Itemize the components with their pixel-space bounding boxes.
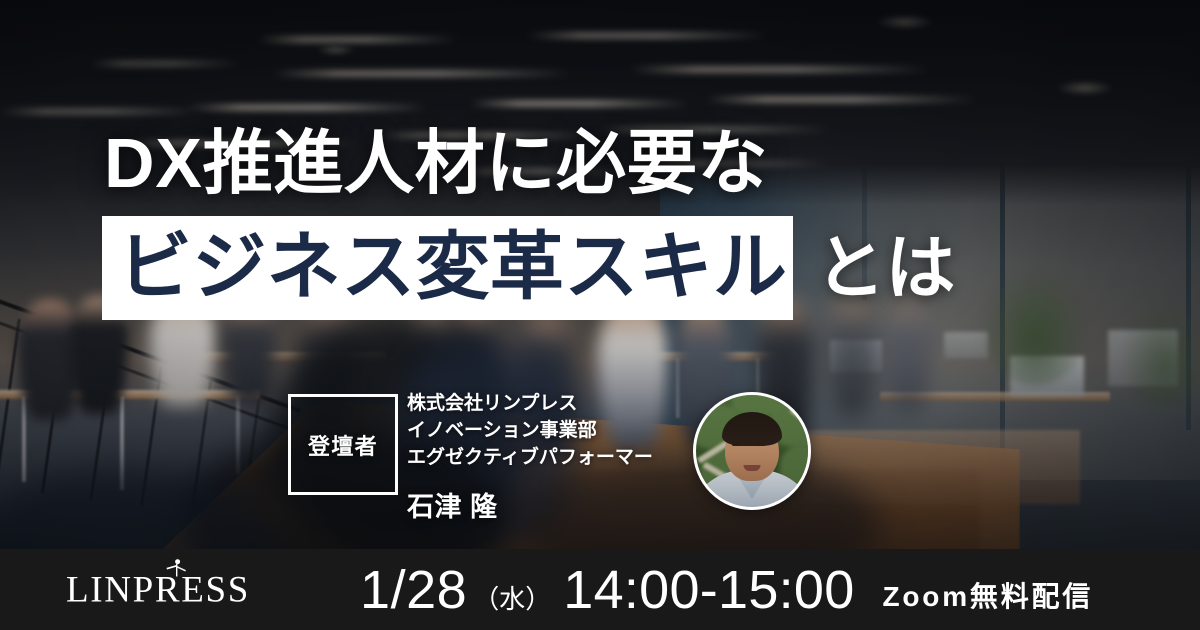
headline-suffix: とは xyxy=(815,233,955,303)
bottom-bar: LINPRESS 1/28 （水） 14:00-15:00 Zoom無料配信 xyxy=(0,549,1200,630)
headline-highlight-band: ビジネス変革スキル xyxy=(102,216,793,320)
event-date: 1/28 xyxy=(360,563,467,617)
event-time: 14:00-15:00 xyxy=(563,563,854,617)
event-delivery: Zoom無料配信 xyxy=(883,583,1094,611)
brand-logo-text: LINPRESS xyxy=(66,571,250,608)
headline-line-2: ビジネス変革スキル とは xyxy=(102,216,955,320)
figure-mark-icon xyxy=(165,557,187,577)
banner-canvas: DX推進人材に必要な ビジネス変革スキル とは 登壇者 株式会社リンプレス イノ… xyxy=(0,0,1200,630)
headline-line-1: DX推進人材に必要な xyxy=(104,128,768,198)
event-datetime: 1/28 （水） 14:00-15:00 Zoom無料配信 xyxy=(360,563,1093,617)
brand-logo[interactable]: LINPRESS xyxy=(66,571,250,608)
event-day-of-week: （水） xyxy=(473,586,551,612)
